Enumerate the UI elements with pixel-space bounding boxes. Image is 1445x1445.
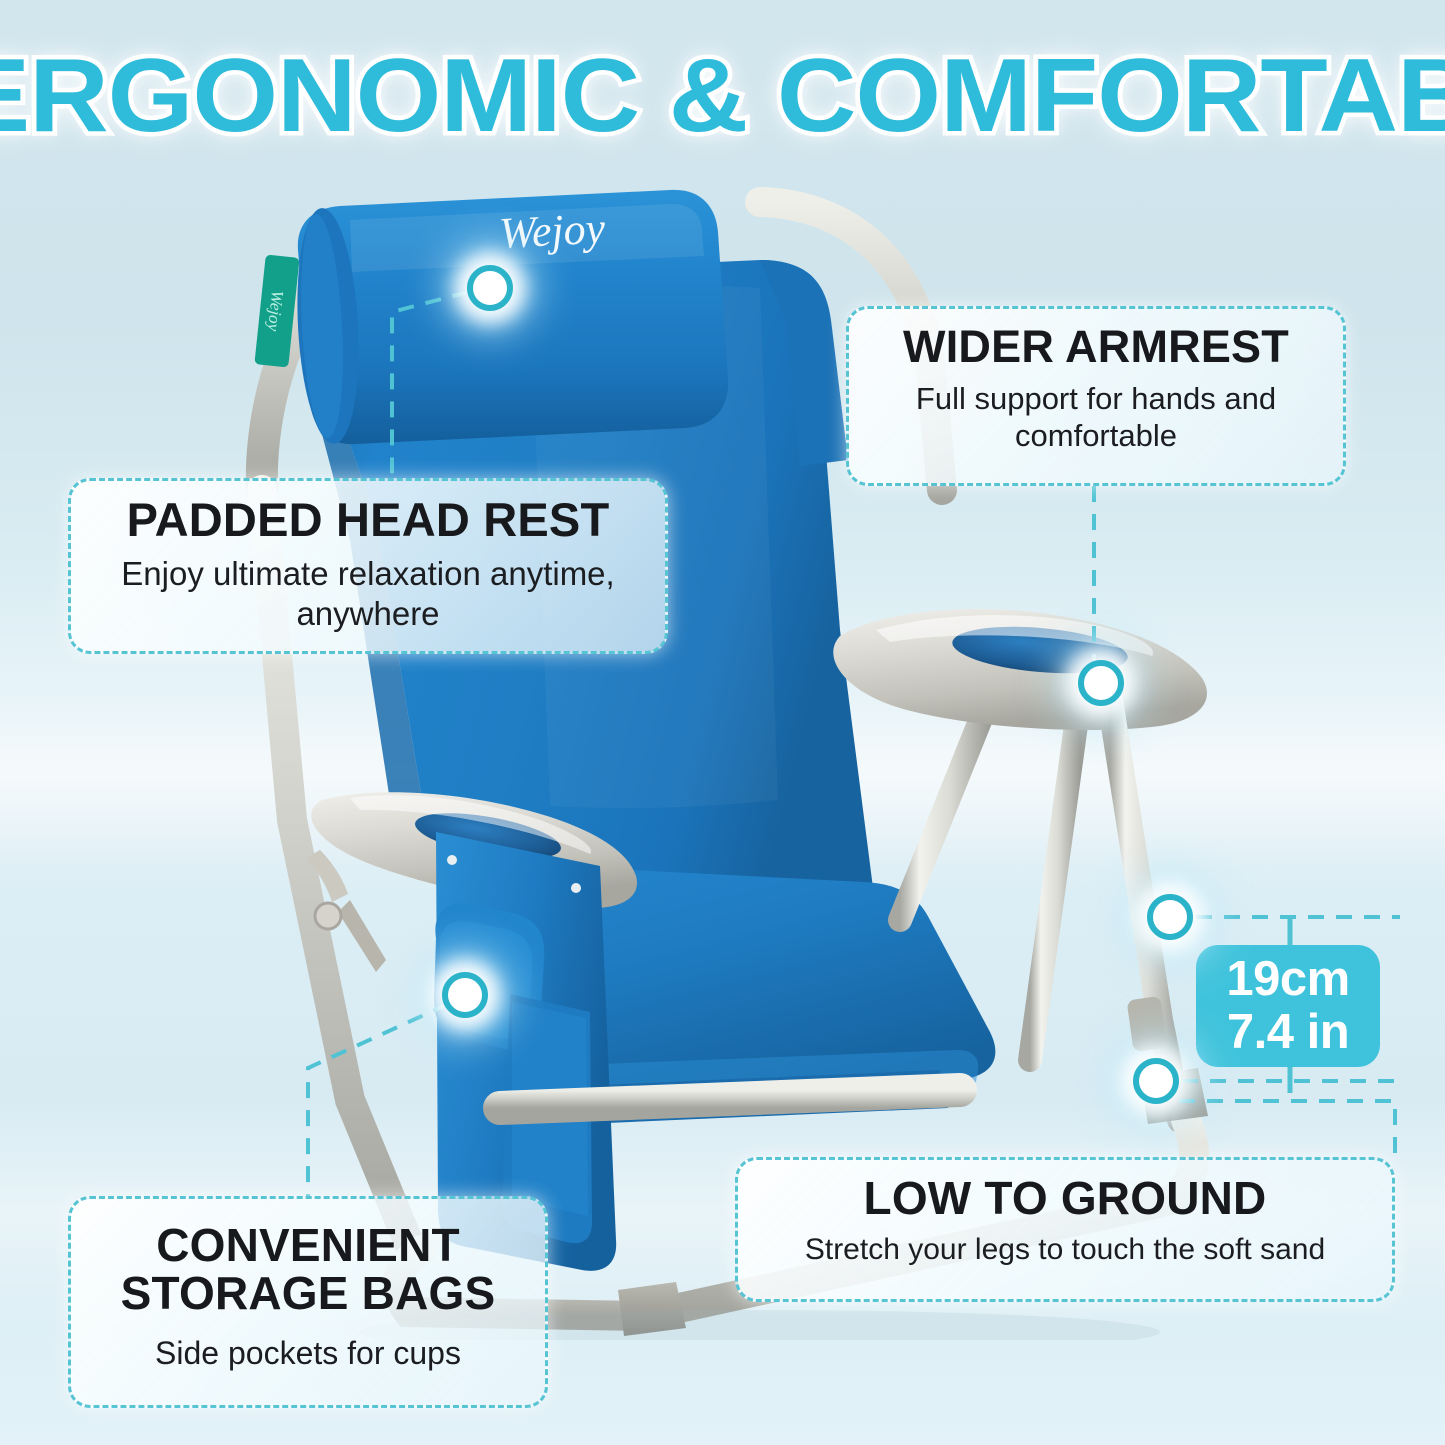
callout-headrest-heading: PADDED HEAD REST bbox=[89, 495, 647, 544]
padded-head-rest-cushion: Wejoy bbox=[292, 190, 728, 446]
marker-dot-storage[interactable] bbox=[442, 972, 488, 1018]
callout-wider-armrest: WIDER ARMREST Full support for hands and… bbox=[846, 306, 1346, 486]
callout-armrest-heading: WIDER ARMREST bbox=[867, 323, 1325, 370]
callout-lowground-body: Stretch your legs to touch the soft sand bbox=[756, 1232, 1374, 1268]
page-title: ERGONOMIC & COMFORTABLE bbox=[0, 44, 1445, 148]
infographic-canvas: ERGONOMIC & COMFORTABLE bbox=[0, 0, 1445, 1445]
marker-dot-measure-bottom[interactable] bbox=[1133, 1058, 1179, 1104]
measurement-metric: 19cm bbox=[1226, 953, 1349, 1006]
svg-text:Wejoy: Wejoy bbox=[498, 203, 607, 257]
callout-lowground-heading: LOW TO GROUND bbox=[756, 1174, 1374, 1222]
callout-low-to-ground: LOW TO GROUND Stretch your legs to touch… bbox=[735, 1157, 1395, 1302]
marker-dot-headrest[interactable] bbox=[467, 265, 513, 311]
callout-armrest-body: Full support for hands and comfortable bbox=[867, 380, 1325, 454]
callout-padded-head-rest: PADDED HEAD REST Enjoy ultimate relaxati… bbox=[68, 478, 668, 654]
measurement-badge: 19cm 7.4 in bbox=[1196, 945, 1380, 1067]
callout-storage-body: Side pockets for cups bbox=[89, 1334, 527, 1372]
callout-storage-heading-line2: STORAGE BAGS bbox=[121, 1267, 496, 1319]
callout-storage-heading-line1: CONVENIENT bbox=[156, 1219, 460, 1271]
marker-dot-armrest[interactable] bbox=[1078, 660, 1124, 706]
marker-dot-measure-top[interactable] bbox=[1147, 894, 1193, 940]
measurement-imperial: 7.4 in bbox=[1227, 1006, 1349, 1059]
callout-convenient-storage-bags: CONVENIENT STORAGE BAGS Side pockets for… bbox=[68, 1196, 548, 1408]
callout-storage-heading: CONVENIENT STORAGE BAGS bbox=[89, 1221, 527, 1318]
callout-headrest-body: Enjoy ultimate relaxation anytime, anywh… bbox=[89, 554, 647, 633]
brand-logo-wejoy: Wejoy bbox=[498, 203, 607, 257]
